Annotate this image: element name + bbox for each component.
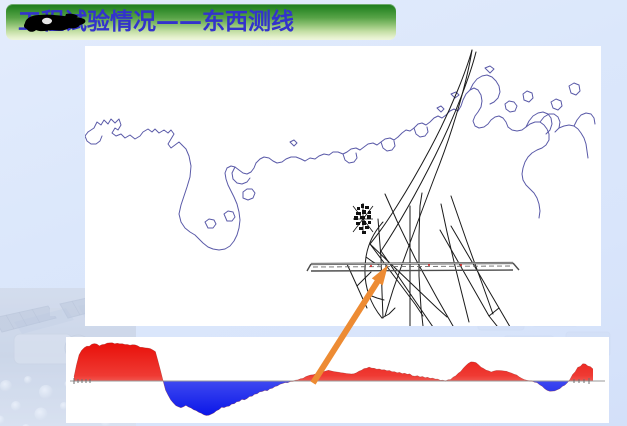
page-title: 工程试验情况——东西测线 [18, 5, 294, 39]
map-canvas [85, 46, 601, 326]
anomaly-profile-chart [66, 337, 609, 423]
anomaly-profile-panel [66, 337, 609, 423]
slide-canvas: 工程试验情况——东西测线 [0, 0, 627, 426]
survey-area-map [85, 46, 601, 326]
slide-title-banner: 工程试验情况——东西测线 [6, 4, 396, 40]
